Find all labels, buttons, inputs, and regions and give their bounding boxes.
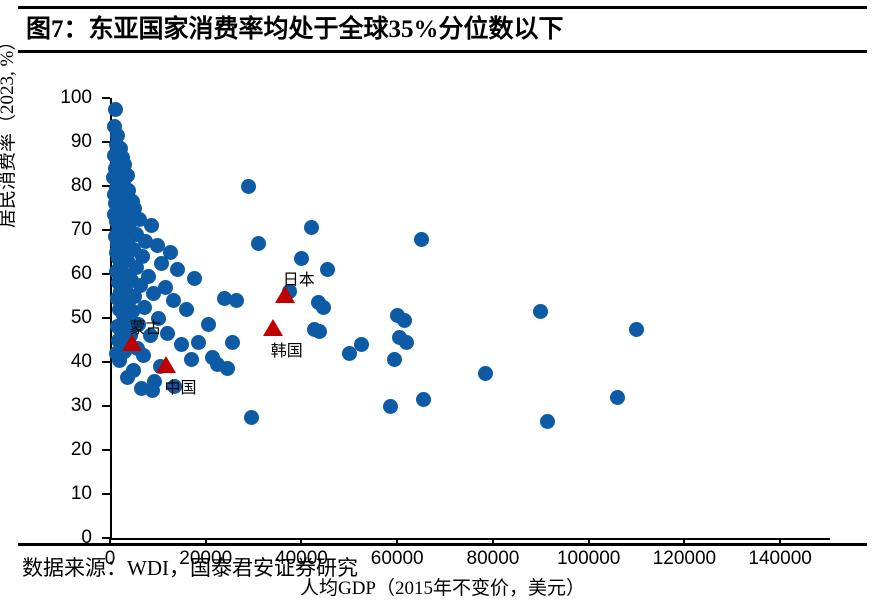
scatter-point [312,324,327,339]
y-tick-label: 10 [48,484,92,503]
figure-page: 图7：东亚国家消费率均处于全球35%分位数以下 0102030405060708… [0,0,885,591]
source-note: 数据来源：WDI，国泰君安证券研究 [22,552,358,582]
y-tick [102,97,110,99]
x-tick-label: 80000 [443,548,543,570]
page-title: 图7：东亚国家消费率均处于全球35%分位数以下 [18,9,867,49]
scatter-point [241,179,256,194]
scatter-point [170,262,185,277]
point-label-中国: 中国 [164,374,196,398]
y-tick-label: 30 [48,396,92,415]
scatter-point [387,352,402,367]
scatter-point [174,337,189,352]
scatter-chart: 0102030405060708090100 02000040000600008… [0,78,885,528]
scatter-point [399,335,414,350]
scatter-point [383,399,398,414]
scatter-point [416,392,431,407]
y-axis-label: 居民消费率（2023, %） [0,32,19,228]
scatter-point [316,300,331,315]
y-tick [102,317,110,319]
y-tick-label: 80 [48,176,92,195]
highlight-marker-中国 [156,356,176,373]
scatter-point [160,326,175,341]
y-tick-label: 50 [48,308,92,327]
y-tick-label: 20 [48,440,92,459]
scatter-point [120,370,135,385]
y-tick-label: 100 [48,88,92,107]
scatter-point [210,357,225,372]
scatter-point [251,236,266,251]
scatter-point [201,317,216,332]
scatter-point [304,220,319,235]
scatter-point [294,251,309,266]
scatter-point [184,352,199,367]
y-tick-label: 60 [48,264,92,283]
scatter-point [108,102,123,117]
scatter-point [629,322,644,337]
scatter-point [144,218,159,233]
x-tick-label: 100000 [539,548,639,570]
scatter-point [540,414,555,429]
scatter-point [112,353,127,368]
scatter-point [191,335,206,350]
scatter-point [244,410,259,425]
scatter-point [342,346,357,361]
y-tick [102,493,110,495]
y-tick [102,449,110,451]
x-tick-label: 120000 [634,548,734,570]
y-tick-label: 90 [48,132,92,151]
scatter-point [320,262,335,277]
y-tick-label: 70 [48,220,92,239]
title-rule-bottom [18,50,867,53]
point-label-蒙古: 蒙古 [130,314,162,338]
x-tick-label: 60000 [347,548,447,570]
point-label-日本: 日本 [283,266,315,290]
y-tick-label: 40 [48,352,92,371]
highlight-marker-韩国 [263,319,283,336]
x-tick-label: 140000 [730,548,830,570]
scatter-point [187,271,202,286]
scatter-point [229,293,244,308]
figure-title-block: 图7：东亚国家消费率均处于全球35%分位数以下 [18,6,867,53]
y-tick [102,361,110,363]
scatter-point [154,256,169,271]
scatter-point [179,302,194,317]
scatter-point [478,366,493,381]
y-tick [102,405,110,407]
scatter-point [533,304,548,319]
plot-area: 蒙古中国日本韩国 [110,98,828,540]
footer-rule [18,543,867,546]
scatter-point [145,383,160,398]
scatter-point [225,335,240,350]
scatter-point [610,390,625,405]
scatter-point [166,293,181,308]
scatter-point [397,313,412,328]
scatter-point [414,232,429,247]
scatter-point [146,286,161,301]
point-label-韩国: 韩国 [271,337,303,361]
